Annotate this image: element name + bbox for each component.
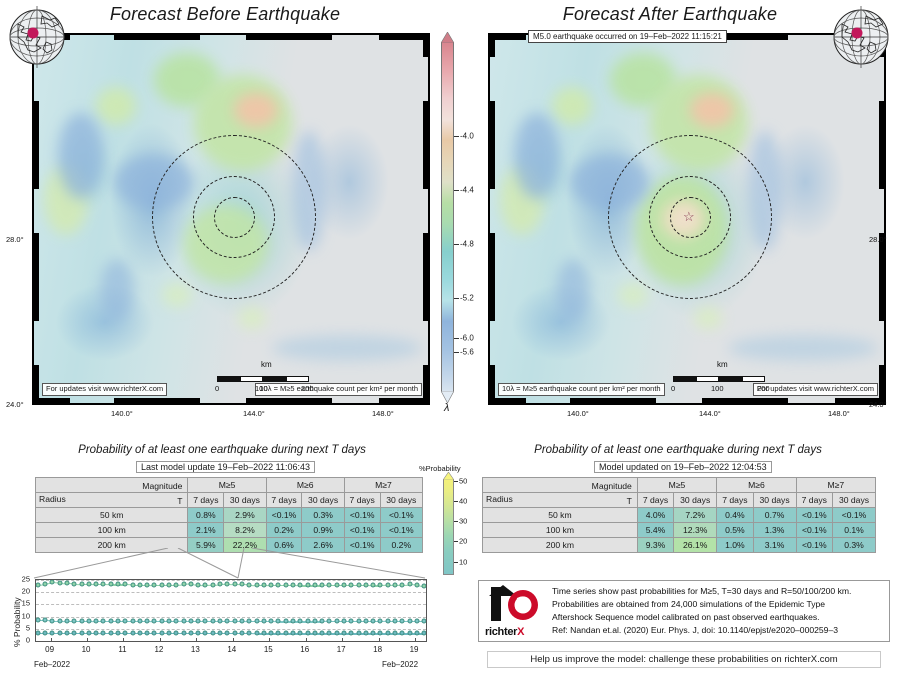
time-series-point [349,583,354,588]
cell-m6-7d[interactable]: 0.4% [717,508,753,523]
cell-m5-7d[interactable]: 9.3% [637,538,673,553]
time-series-point [327,583,332,588]
table-group-m5: M≥5 [188,478,266,493]
cell-m5-30d[interactable]: 26.1% [674,538,717,553]
time-series-x-tick: 15 [264,645,273,654]
corner-label-radius: Radius [39,494,66,504]
time-series-point [43,618,48,623]
time-series-point [57,580,62,585]
time-series-point [79,581,84,586]
time-series-point [298,583,303,588]
table-group-m6: M≥6 [717,478,796,493]
time-series-point [341,583,346,588]
table-group-m6: M≥6 [266,478,344,493]
time-series-point [152,631,157,636]
time-series-point [108,631,113,636]
time-series-point [218,618,223,623]
time-series-point [276,619,281,624]
table-period-m7-7d: 7 days [796,493,832,508]
time-series-point [349,619,354,624]
time-series-point [35,618,40,623]
time-series-point [50,580,55,585]
time-series-point [378,631,383,636]
lambda-tick-6-0: -6.0 [460,334,474,343]
time-series-point [400,631,405,636]
table-header-period-row: Radius T 7 days 30 days 7 days 30 days 7… [36,493,423,508]
cell-m7-7d[interactable]: <0.1% [344,508,380,523]
time-series-point [167,582,172,587]
cell-m5-7d[interactable]: 0.8% [188,508,224,523]
time-series-point [79,618,84,623]
time-series-x-tickmark [196,638,197,641]
time-series-point [290,583,295,588]
left-panel-title: Forecast Before Earthquake [60,4,390,25]
scale-tick-100: 100 [711,384,724,393]
left-table-subtitle: Last model update 19–Feb–2022 11:06:43 [136,461,315,473]
time-series-point [298,619,303,624]
time-series-point [305,583,310,588]
time-series-point [371,631,376,636]
left-table-title: Probability of at least one earthquake d… [22,444,422,456]
row-radius-100km: 100 km [36,523,188,538]
corner-label-radius: Radius [486,494,513,504]
map-before-earthquake[interactable]: km 0 100 200 For updates visit www.richt… [32,33,430,405]
cell-m6-30d[interactable]: 1.3% [753,523,796,538]
time-series-point [174,619,179,624]
table-row[interactable]: 100 km 2.1% 8.2% 0.2% 0.9% <0.1% <0.1% [36,523,423,538]
table-row[interactable]: 50 km 4.0% 7.2% 0.4% 0.7% <0.1% <0.1% [483,508,876,523]
time-series-point [94,618,99,623]
table-period-m7-30d: 30 days [832,493,875,508]
time-series-point [232,631,237,636]
time-series-point [400,618,405,623]
time-series-point [232,618,237,623]
cell-m5-30d[interactable]: 2.9% [224,508,266,523]
time-series-point [94,582,99,587]
time-series-point [356,631,361,636]
cell-m6-7d[interactable]: <0.1% [266,508,302,523]
map-note-updates-left: For updates visit www.richterX.com [42,383,167,396]
time-series-point [261,619,266,624]
cell-m5-30d[interactable]: 8.2% [224,523,266,538]
table-group-m7: M≥7 [344,478,422,493]
time-series-point [407,582,412,587]
time-series-point [225,631,230,636]
prob-tick-40: 40 [459,497,467,506]
richterx-wordmark: richterX [485,626,524,638]
time-series-point [145,582,150,587]
time-series-point [393,631,398,636]
time-series-point [254,582,259,587]
time-series-point [116,618,121,623]
table-header-magnitude-row: Magnitude M≥5 M≥6 M≥7 [483,478,876,493]
time-series-point [298,631,303,636]
time-series-point [196,631,201,636]
time-series-point [203,618,208,623]
time-series-point [159,631,164,636]
corner-label-magnitude: Magnitude [592,481,632,491]
row-radius-200km: 200 km [483,538,638,553]
cell-m5-30d[interactable]: 7.2% [674,508,717,523]
prob-tick-30: 30 [459,517,467,526]
cell-m6-30d[interactable]: 3.1% [753,538,796,553]
lambda-colorbar: -4.0 -4.4 -4.8 -5.2 -5.6 [441,42,454,392]
cell-m6-7d[interactable]: 0.2% [266,523,302,538]
cell-m7-7d[interactable]: <0.1% [344,523,380,538]
table-period-m6-30d: 30 days [753,493,796,508]
table-group-m7: M≥7 [796,478,875,493]
time-series-point [101,618,106,623]
time-series-x-tickmark [306,638,307,641]
earthquake-event-annotation: M5.0 earthquake occurred on 19–Feb–2022 … [528,30,727,43]
scale-unit-left: km [261,360,272,369]
time-series-point [269,619,274,624]
time-series-point [305,619,310,624]
time-series-point [57,630,62,635]
model-info-line-1: Time series show past probabilities for … [552,585,851,599]
table-period-m5-30d: 30 days [224,493,266,508]
table-row[interactable]: 100 km 5.4% 12.3% 0.5% 1.3% <0.1% 0.1% [483,523,876,538]
time-series-x-tickmark [342,638,343,641]
time-series-point [152,582,157,587]
time-series-x-tick: 13 [191,645,200,654]
time-series-point [35,630,40,635]
time-series-point [35,582,40,587]
map-right-ylabel-28: 28.0° [869,235,887,244]
time-series-x-tick: 12 [154,645,163,654]
time-series-point [247,619,252,624]
time-series-point [196,618,201,623]
time-series-chart[interactable]: % Probability Feb–2022 Feb–2022 05101520… [0,575,440,673]
time-series-point [145,631,150,636]
time-series-point [312,619,317,624]
time-series-point [261,631,266,636]
time-series-point [137,582,142,587]
time-series-point [94,630,99,635]
time-series-point [283,631,288,636]
time-series-point [86,581,91,586]
time-series-point [188,581,193,586]
time-series-point [203,631,208,636]
time-series-point [327,631,332,636]
time-series-point [137,631,142,636]
right-panel-title: Forecast After Earthquake [505,4,835,25]
time-series-y-tick: 25 [14,575,30,584]
time-series-point [341,631,346,636]
time-series-point [167,619,172,624]
cell-m5-7d[interactable]: 2.1% [188,523,224,538]
time-series-point [312,583,317,588]
time-series-point [57,618,62,623]
cell-m7-7d[interactable]: <0.1% [796,538,832,553]
time-series-point [79,630,84,635]
scale-tick-0: 0 [215,384,219,393]
table-period-m5-7d: 7 days [188,493,224,508]
time-series-point [407,618,412,623]
table-corner-radius-t: Radius T [483,493,638,508]
time-series-point [269,631,274,636]
help-cta-banner[interactable]: Help us improve the model: challenge the… [487,651,881,668]
time-series-point [422,584,427,589]
time-series-point [188,631,193,636]
cell-m7-30d[interactable]: <0.1% [380,508,422,523]
time-series-point [276,631,281,636]
cell-m6-30d[interactable]: 0.3% [302,508,344,523]
time-series-point [393,582,398,587]
time-series-x-tick: 16 [300,645,309,654]
time-series-point [385,618,390,623]
probability-colorbar-title: %Probability [419,464,461,473]
map-right-xlabel-144: 144.0° [699,409,721,418]
map-right-ylabel-24: 24.0° [869,400,887,409]
time-series-point [225,618,230,623]
time-series-point [320,583,325,588]
time-series-point [239,618,244,623]
prob-tick-10: 10 [459,557,467,566]
time-series-y-tick: 5 [14,623,30,632]
time-series-point [283,619,288,624]
time-series-point [283,583,288,588]
time-series-point [261,582,266,587]
radius-circle-50km [214,197,255,238]
time-series-point [50,630,55,635]
time-series-point [378,583,383,588]
map-left-xlabel-148: 148.0° [372,409,394,418]
time-series-gridline [36,592,426,593]
prob-tick-20: 20 [459,537,467,546]
cell-m7-7d[interactable]: <0.1% [796,523,832,538]
time-series-point [385,583,390,588]
time-series-point [123,631,128,636]
time-series-x-tickmark [415,638,416,641]
globe-inset-left [2,2,72,72]
time-series-y-tick: 20 [14,587,30,596]
time-series-x-tick: 11 [118,645,126,654]
time-series-x-tickmark [87,638,88,641]
time-series-x-tick: 18 [373,645,382,654]
time-series-y-tick: 0 [14,636,30,645]
time-series-point [123,618,128,623]
time-series-point [130,582,135,587]
time-series-xlabel-left: Feb–2022 [34,660,70,669]
map-frame-right: ☆ km 0 100 200 10λ = M≥5 earthquake coun… [488,33,886,405]
table-row[interactable]: 200 km 9.3% 26.1% 1.0% 3.1% <0.1% 0.3% [483,538,876,553]
time-series-point [393,618,398,623]
time-series-x-tick: 19 [410,645,419,654]
time-series-point [218,631,223,636]
time-series-point [232,582,237,587]
scale-bar-right: km 0 100 200 [673,360,783,394]
time-series-point [108,582,113,587]
table-period-m5-7d: 7 days [637,493,673,508]
time-series-point [218,582,223,587]
time-series-gridline [36,641,426,642]
time-series-point [269,583,274,588]
time-series-x-tick: 14 [227,645,236,654]
time-series-x-tick: 17 [337,645,346,654]
time-series-point [72,618,77,623]
time-series-point [312,631,317,636]
time-series-point [349,631,354,636]
cell-m7-30d[interactable]: <0.1% [832,508,875,523]
time-series-point [371,583,376,588]
time-series-point [181,618,186,623]
time-series-point [363,619,368,624]
map-frame-left: km 0 100 200 For updates visit www.richt… [32,33,430,405]
epicenter-star-icon: ☆ [683,210,695,223]
cell-m6-7d[interactable]: 1.0% [717,538,753,553]
time-series-point [72,581,77,586]
table-header-magnitude-row: Magnitude M≥5 M≥6 M≥7 [36,478,423,493]
time-series-point [356,619,361,624]
cell-m5-7d[interactable]: 4.0% [637,508,673,523]
row-radius-100km: 100 km [483,523,638,538]
scale-unit-right: km [717,360,728,369]
time-series-point [64,618,69,623]
scale-tick-200: 200 [757,384,770,393]
cell-m6-30d[interactable]: 0.9% [302,523,344,538]
scale-bar-left: km 0 100 200 [217,360,327,394]
corner-label-t: T [627,496,632,506]
time-series-point [116,631,121,636]
richterx-logo-icon [487,585,545,625]
time-series-point [334,583,339,588]
time-series-point [276,583,281,588]
time-series-point [101,582,106,587]
time-series-point [254,631,259,636]
time-series-x-tick: 10 [82,645,91,654]
lambda-tick-4-0: -4.0 [460,132,474,141]
map-after-earthquake[interactable]: ☆ km 0 100 200 10λ = M≥5 earthquake coun… [488,33,886,405]
table-header-period-row: Radius T 7 days 30 days 7 days 30 days 7… [483,493,876,508]
time-series-x-tickmark [233,638,234,641]
time-series-point [188,618,193,623]
scale-tick-0: 0 [671,384,675,393]
time-series-point [414,618,419,623]
time-series-point [152,619,157,624]
time-series-point [145,618,150,623]
cell-m5-30d[interactable]: 12.3% [674,523,717,538]
time-series-point [407,631,412,636]
time-series-point [210,582,215,587]
lambda-tick-5-6: -5.6 [460,347,474,356]
map-left-ylabel-28: 28.0° [6,235,24,244]
time-series-point [86,630,91,635]
lambda-symbol-label: λ [444,402,449,414]
time-series-point [371,619,376,624]
time-series-gridline [36,604,426,605]
time-series-point [174,631,179,636]
time-series-point [334,619,339,624]
prob-tick-50: 50 [459,476,467,485]
table-period-m7-30d: 30 days [380,493,422,508]
time-series-point [254,619,259,624]
right-probability-table[interactable]: Magnitude M≥5 M≥6 M≥7 Radius T 7 days 30… [482,477,876,553]
time-series-point [414,582,419,587]
time-series-point [159,582,164,587]
time-series-point [341,619,346,624]
time-series-point [64,581,69,586]
time-series-x-tickmark [51,638,52,641]
table-row[interactable]: 50 km 0.8% 2.9% <0.1% 0.3% <0.1% <0.1% [36,508,423,523]
lambda-tick-4-8: -4.8 [460,239,474,248]
time-series-point [130,618,135,623]
time-series-point [422,631,427,636]
time-series-x-tickmark [379,638,380,641]
time-series-point [159,619,164,624]
lambda-tick-4-4: -4.4 [460,186,474,195]
time-series-point [422,618,427,623]
time-series-point [334,631,339,636]
time-series-point [400,582,405,587]
time-series-x-tickmark [123,638,124,641]
time-series-point [210,631,215,636]
map-left-xlabel-140: 140.0° [111,409,133,418]
time-series-point [72,630,77,635]
time-series-point [320,631,325,636]
time-series-gridline [36,617,426,618]
time-series-point [239,582,244,587]
table-corner-magnitude: Magnitude [483,478,638,493]
map-left-xlabel-144: 144.0° [243,409,265,418]
scale-tick-200: 200 [301,384,314,393]
time-series-point [363,583,368,588]
corner-label-magnitude: Magnitude [142,481,182,491]
time-series-point [203,582,208,587]
time-series-point [130,631,135,636]
model-info-line-4: Ref: Nandan et.al. (2020) Eur. Phys. J, … [552,624,838,638]
cell-m7-30d[interactable]: <0.1% [380,523,422,538]
time-series-point [86,618,91,623]
time-series-point [363,631,368,636]
cell-m6-30d[interactable]: 0.7% [753,508,796,523]
time-series-point [356,583,361,588]
time-series-xlabel-right: Feb–2022 [382,660,418,669]
map-left-ylabel-24: 24.0° [6,400,24,409]
table-group-m5: M≥5 [637,478,716,493]
time-series-point [210,618,215,623]
right-table-title: Probability of at least one earthquake d… [478,444,878,456]
time-series-point [174,582,179,587]
time-series-point [290,631,295,636]
row-radius-50km: 50 km [483,508,638,523]
time-series-point [50,618,55,623]
map-right-xlabel-148: 148.0° [828,409,850,418]
time-series-point [290,619,295,624]
map-note-lambda-right: 10λ = M≥5 earthquake count per km² per m… [498,383,665,396]
time-series-point [247,582,252,587]
time-series-point [116,582,121,587]
table-period-m5-30d: 30 days [674,493,717,508]
lambda-tick-5-2: -5.2 [460,293,474,302]
table-period-m6-7d: 7 days [717,493,753,508]
cell-m7-30d[interactable]: 0.3% [832,538,875,553]
globe-inset-right [826,2,896,72]
cell-m7-7d[interactable]: <0.1% [796,508,832,523]
time-series-x-tickmark [160,638,161,641]
time-series-point [101,631,106,636]
left-probability-table[interactable]: Magnitude M≥5 M≥6 M≥7 Radius T 7 days 30… [35,477,423,553]
cell-m6-7d[interactable]: 0.5% [717,523,753,538]
cell-m7-30d[interactable]: 0.1% [832,523,875,538]
time-series-point [196,582,201,587]
time-series-point [414,631,419,636]
time-series-y-tick: 10 [14,611,30,620]
cell-m5-7d[interactable]: 5.4% [637,523,673,538]
time-series-point [385,631,390,636]
time-series-point [181,582,186,587]
logo-word-dark: richter [485,626,517,638]
